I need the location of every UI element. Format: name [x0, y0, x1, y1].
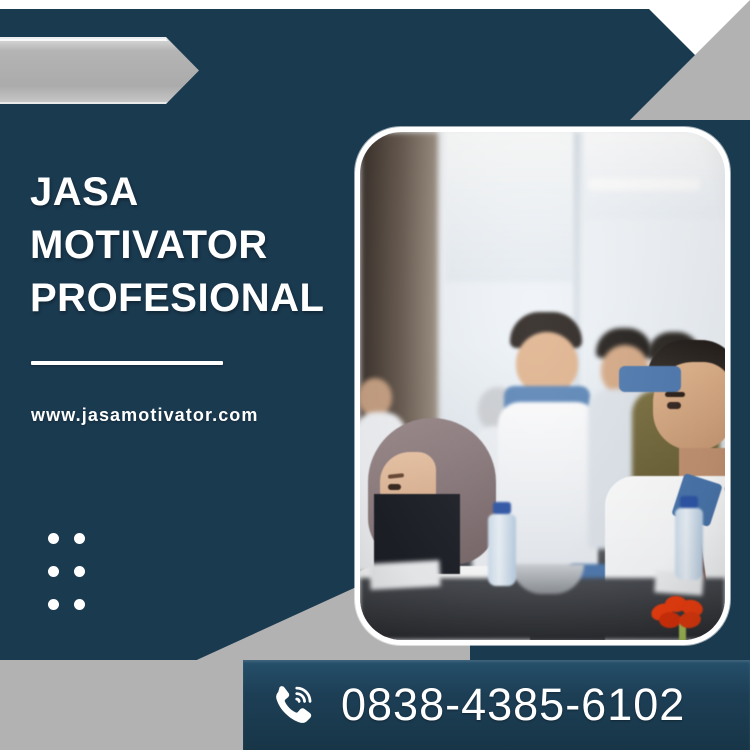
phone-number-text: 0838-4385-6102 [341, 679, 685, 731]
dot [74, 533, 85, 544]
headline-line-3: PROFESIONAL [30, 272, 360, 325]
headline-divider [31, 361, 223, 365]
phone-call-icon [267, 680, 319, 730]
top-white-strip [0, 0, 750, 9]
photo-water-bottle [488, 502, 516, 586]
photo-foreground-woman [368, 418, 496, 564]
photo-ceiling-panel-left [446, 132, 574, 282]
page-title: JASA MOTIVATOR PROFESIONAL [30, 166, 360, 325]
seminar-photo [360, 132, 725, 640]
contact-bar[interactable]: 0838-4385-6102 [243, 660, 750, 750]
dot [74, 566, 85, 577]
photo-person-center [510, 312, 598, 588]
dot [74, 599, 85, 610]
photo-paper [369, 560, 440, 590]
photo-ceiling-light [588, 178, 700, 190]
photo-frame [355, 127, 730, 645]
dot-grid-decoration [48, 533, 85, 610]
photo-ceiling-panel-right [574, 132, 725, 218]
photo-water-bottle [675, 496, 703, 580]
arrow-banner-shape [0, 37, 199, 104]
dot [48, 599, 59, 610]
headline-line-2: MOTIVATOR [30, 219, 360, 272]
headline-line-1: JASA [30, 166, 360, 219]
website-url[interactable]: www.jasamotivator.com [31, 405, 259, 426]
poster-canvas: JASA MOTIVATOR PROFESIONAL www.jasamotiv… [0, 0, 750, 750]
photo-foreground-man [641, 340, 725, 450]
dot [48, 533, 59, 544]
dot [48, 566, 59, 577]
